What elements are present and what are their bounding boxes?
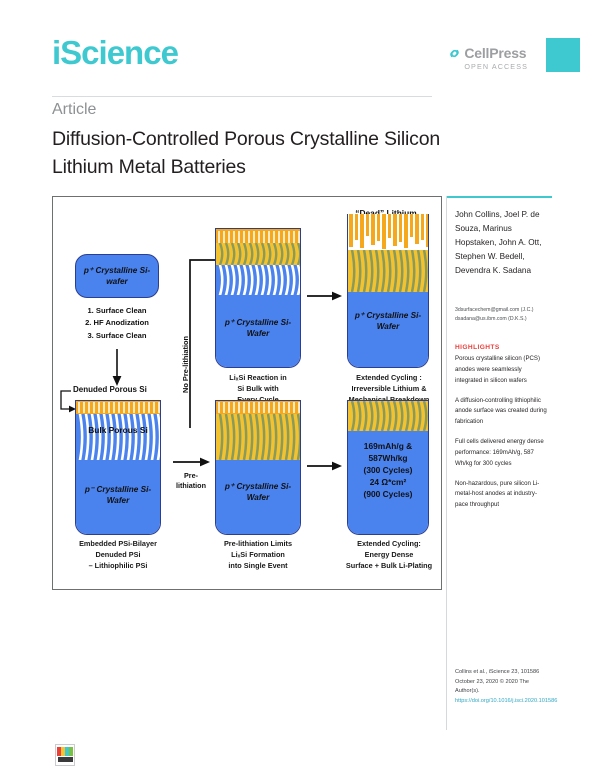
pore-texture-icon <box>76 401 161 414</box>
author-list: John Collins, Joel P. de Souza, Marinus … <box>455 208 547 279</box>
arrow-down-icon <box>109 349 125 387</box>
page-title: Diffusion-Controlled Porous Crystalline … <box>52 126 442 181</box>
correspondence-emails[interactable]: 3dsurfacechem@gmail.com (J.C.) dsadana@u… <box>455 306 550 324</box>
caption-right-bottom: Extended Cycling: Energy Dense Surface +… <box>331 539 447 572</box>
cellpress-wordmark: CellPress <box>464 46 526 60</box>
citation-block: Collins et al., iScience 23, 101586 Octo… <box>455 668 550 706</box>
wafer-stack-right-bottom: 169mAh/g & 587Wh/kg (300 Cycles) 24 Ω*cm… <box>347 400 429 535</box>
prelithiation-arrow-label: Pre- lithiation <box>165 471 217 491</box>
arrow-right-prelithiation-icon <box>171 455 211 469</box>
pore-texture-icon <box>216 401 301 414</box>
list-item: A diffusion-controlling lithiophilic ano… <box>455 396 548 429</box>
bulk-porous-si-label: Bulk Porous Si <box>76 425 160 436</box>
process-step-list: 1. Surface Clean 2. HF Anodization 3. Su… <box>69 305 165 342</box>
wafer-stack-mid-bottom: p⁺ Crystalline Si-Wafer <box>215 400 301 535</box>
list-item: Porous crystalline silicon (PCS) anodes … <box>455 354 548 387</box>
lixsi-stripe-texture-icon <box>348 250 428 292</box>
list-item: Non-hazardous, pure silicon Li-metal-hos… <box>455 479 548 512</box>
dendrite-texture-icon <box>348 214 428 250</box>
lixsi-stripe-texture-icon <box>216 243 300 265</box>
layer-denuded-psi <box>76 401 160 414</box>
article-type-kicker: Article <box>52 101 96 119</box>
layer-lixsi-right-bottom <box>348 401 428 431</box>
wafer-stack-bilayer: Bulk Porous Si p⁻ Crystalline Si-Wafer <box>75 400 161 535</box>
layer-lixsi-mid-bottom <box>216 414 300 460</box>
citation-source: Collins et al., iScience 23, 101586 <box>455 668 550 678</box>
denuded-porous-si-tag: Denuded Porous Si <box>73 385 147 394</box>
doi-link[interactable]: https://doi.org/10.1016/j.isci.2020.1015… <box>455 697 550 707</box>
no-prelithiation-label: No Pre-lithiation <box>181 336 190 393</box>
page-root: iScience CellPress OPEN ACCESS Article D… <box>0 0 600 779</box>
pore-texture-icon <box>216 229 301 243</box>
wafer-stack-right-top: p⁺ Crystalline Si-Wafer <box>347 214 429 368</box>
check-for-updates-icon[interactable] <box>55 744 75 766</box>
journal-title: iScience <box>52 36 178 69</box>
layer-lixsi-right-top <box>348 250 428 292</box>
graphical-abstract: p⁺ Crystalline Si-wafer 1. Surface Clean… <box>52 196 442 590</box>
link-chain-icon <box>448 47 461 60</box>
layer-porous-mid-top <box>216 265 300 295</box>
layer-lixsi-mid-top <box>216 243 300 265</box>
layer-li-metal-top-mid <box>216 229 300 243</box>
wafer-mid-top-label: p⁺ Crystalline Si-Wafer <box>216 317 300 339</box>
sidebar-top-rule <box>446 196 552 198</box>
arrow-right-bottom-icon <box>305 459 343 473</box>
highlights-heading: HIGHLIGHTS <box>455 344 500 351</box>
caption-mid-bottom: Pre-lithiation Limits LiₓSi Formation in… <box>203 539 313 572</box>
open-access-label: OPEN ACCESS <box>464 62 528 71</box>
arrow-right-top-icon <box>305 289 343 303</box>
teal-accent-block <box>546 38 580 72</box>
lixsi-stripe-texture-icon <box>348 401 428 431</box>
header-divider <box>52 96 432 97</box>
results-metrics: 169mAh/g & 587Wh/kg (300 Cycles) 24 Ω*cm… <box>348 441 428 501</box>
starting-wafer-label: p⁺ Crystalline Si-wafer <box>76 265 158 287</box>
porous-stripe-texture-icon <box>76 414 160 460</box>
sidebar-divider <box>446 196 447 730</box>
cellpress-logo: CellPress OPEN ACCESS <box>448 46 528 71</box>
layer-dead-lithium-dendrites <box>348 214 428 250</box>
layer-li-metal-mid-bottom <box>216 401 300 414</box>
wafer-mid-bottom-label: p⁺ Crystalline Si-Wafer <box>216 481 300 503</box>
wafer-substrate-label: p⁻ Crystalline Si-Wafer <box>76 484 160 506</box>
masthead: iScience CellPress OPEN ACCESS <box>0 0 600 96</box>
lixsi-stripe-texture-icon <box>216 414 300 460</box>
porous-stripe-texture-icon <box>216 265 300 295</box>
wafer-stack-mid-top: p⁺ Crystalline Si-Wafer <box>215 228 301 368</box>
layer-bulk-porous-si <box>76 414 160 460</box>
wafer-right-top-label: p⁺ Crystalline Si-Wafer <box>348 310 428 332</box>
diagram-box-starting-wafer: p⁺ Crystalline Si-wafer <box>75 254 159 298</box>
bracket-pointer-icon <box>57 389 77 417</box>
citation-date: October 23, 2020 © 2020 The Author(s). <box>455 678 550 697</box>
list-item: Full cells delivered energy dense perfor… <box>455 437 548 470</box>
highlights-list: Porous crystalline silicon (PCS) anodes … <box>455 354 548 520</box>
caption-bottom-left: Embedded PSi-Bilayer Denuded PSi – Lithi… <box>65 539 171 572</box>
